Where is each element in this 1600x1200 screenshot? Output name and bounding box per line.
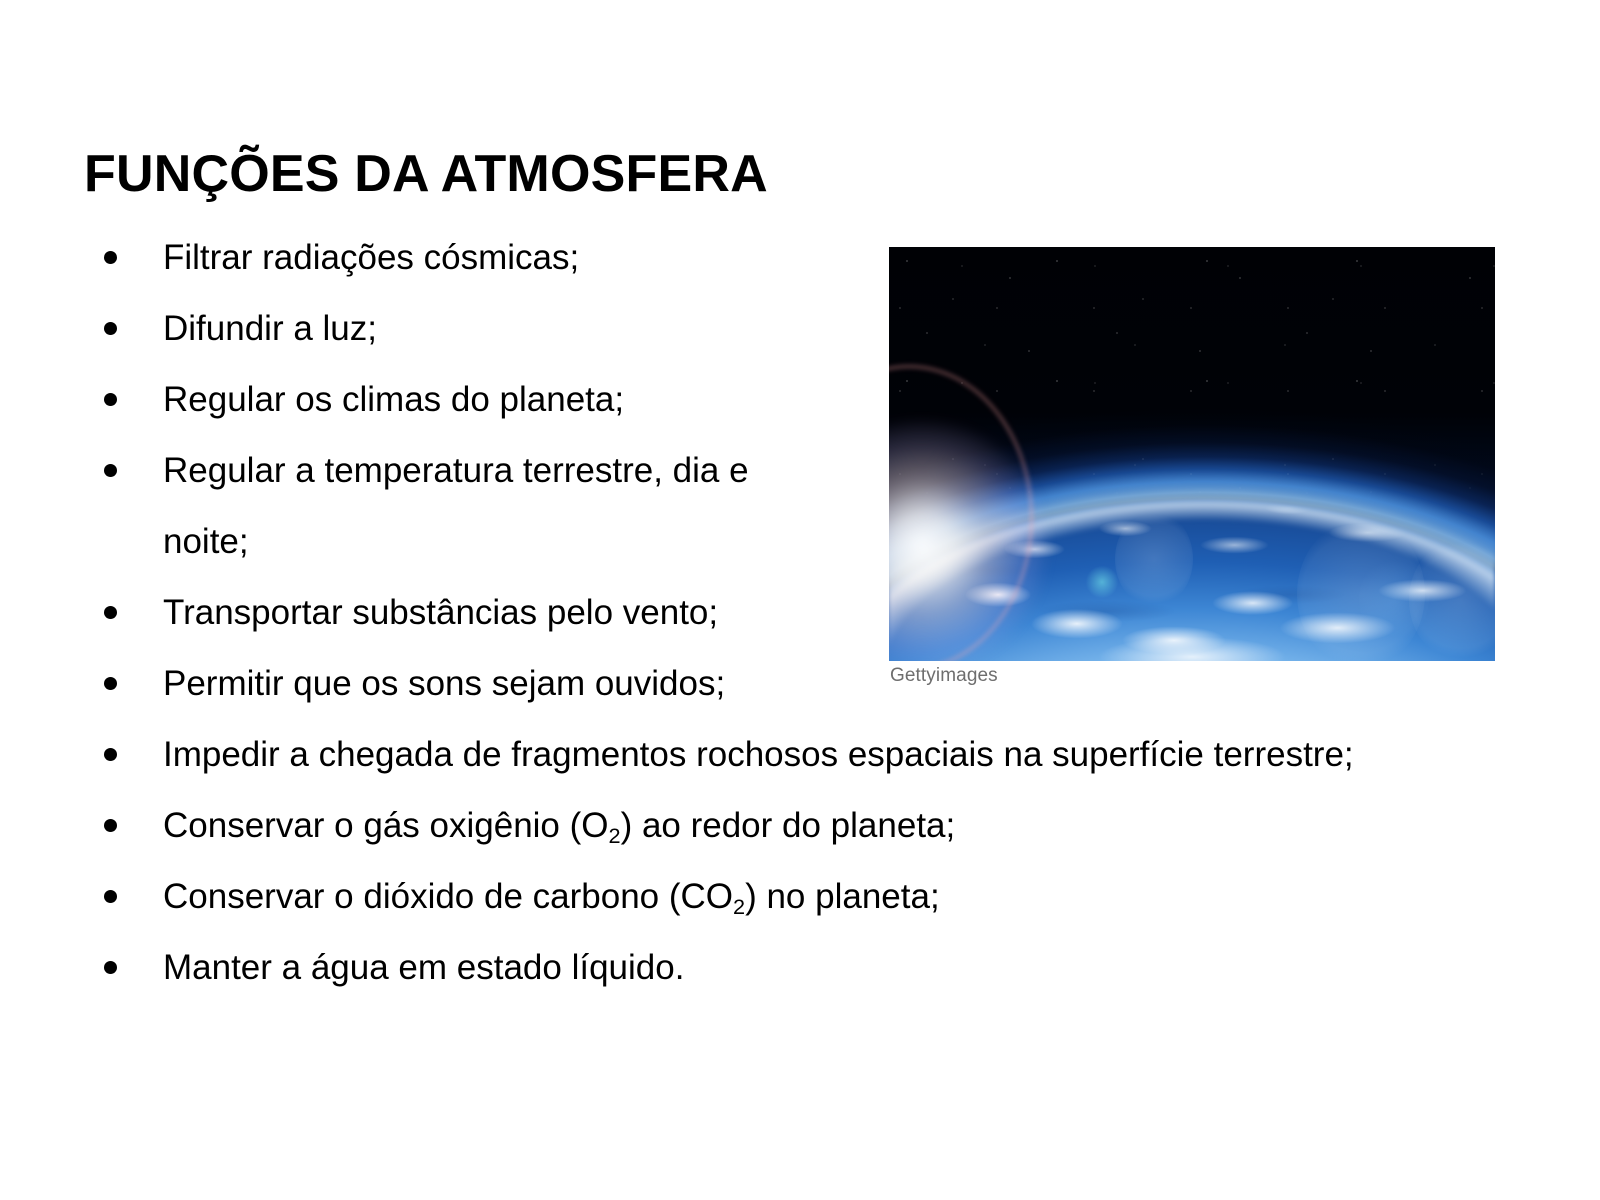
list-item: Conservar o gás oxigênio (O2) ao redor d… bbox=[96, 790, 1406, 861]
bullet-dot-icon bbox=[104, 890, 117, 903]
bullet-dot-icon bbox=[104, 677, 117, 690]
bullet-dot-icon bbox=[104, 748, 117, 761]
page-title: FUNÇÕES DA ATMOSFERA bbox=[84, 147, 768, 202]
list-item: Impedir a chegada de fragmentos rochosos… bbox=[96, 719, 1453, 790]
bullet-dot-icon bbox=[104, 961, 117, 974]
bullet-dot-icon bbox=[104, 819, 117, 832]
lens-flare-ghost bbox=[1085, 565, 1119, 599]
list-item: Manter a água em estado líquido. bbox=[96, 932, 1406, 1003]
bullet-dot-icon bbox=[104, 322, 117, 335]
bullet-dot-icon bbox=[104, 606, 117, 619]
list-item-label: Manter a água em estado líquido. bbox=[163, 948, 684, 987]
list-item: Conservar o dióxido de carbono (CO2) no … bbox=[96, 861, 1406, 932]
bullet-dot-icon bbox=[104, 393, 117, 406]
list-item-label: Regular a temperatura terrestre, dia e n… bbox=[163, 451, 749, 561]
list-item-label: Filtrar radiações cósmicas; bbox=[163, 238, 579, 277]
list-item-label: Regular os climas do planeta; bbox=[163, 380, 624, 419]
image-credit-caption: Gettyimages bbox=[890, 665, 998, 687]
list-item-label: Impedir a chegada de fragmentos rochosos… bbox=[163, 735, 1354, 774]
list-item-label: Conservar o gás oxigênio (O2) ao redor d… bbox=[163, 806, 955, 845]
figure-earth-from-space: Gettyimages bbox=[889, 247, 1495, 685]
slide-canvas: FUNÇÕES DA ATMOSFERA Filtrar radiações c… bbox=[0, 0, 1600, 1200]
bullet-dot-icon bbox=[104, 464, 117, 477]
list-item: Regular a temperatura terrestre, dia e n… bbox=[96, 435, 803, 577]
list-item-label: Permitir que os sons sejam ouvidos; bbox=[163, 664, 725, 703]
lens-flare-ghost bbox=[1115, 511, 1193, 607]
list-item: Transportar substâncias pelo vento; bbox=[96, 577, 783, 648]
earth-from-space-image bbox=[889, 247, 1495, 661]
bullet-dot-icon bbox=[104, 251, 117, 264]
list-item-label: Conservar o dióxido de carbono (CO2) no … bbox=[163, 877, 940, 916]
list-item-label: Transportar substâncias pelo vento; bbox=[163, 593, 718, 632]
list-item-label: Difundir a luz; bbox=[163, 309, 377, 348]
